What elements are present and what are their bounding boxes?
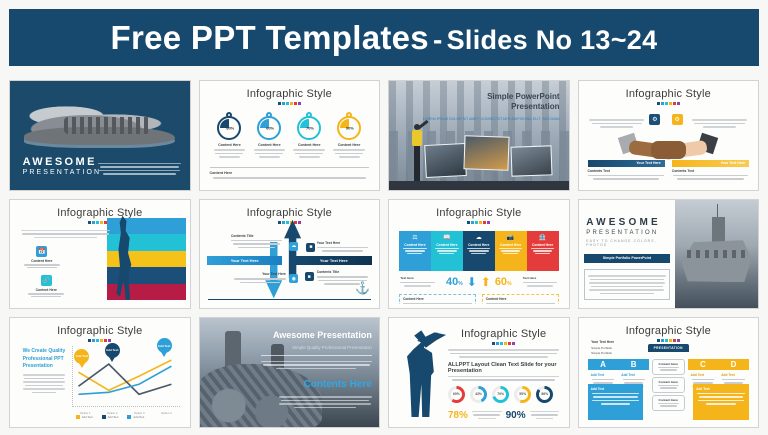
footer-block-left[interactable]: Add Text: [588, 384, 644, 420]
big-percent-row: 78% 90%: [448, 409, 559, 422]
note-title: Contents Title: [231, 234, 282, 238]
text-line: [98, 170, 180, 172]
donut-percent: 43%: [473, 389, 484, 400]
box-icon: ■: [305, 272, 314, 281]
donut-percent: 55%: [517, 389, 528, 400]
slide10-subtitle: Simple Quality Professional Presentation: [292, 345, 372, 350]
big-percent-right: 90%: [506, 410, 526, 421]
donut-percent: 70%: [495, 389, 506, 400]
slide12-top-item: Simple Portfolio: [591, 351, 642, 355]
stat-label-right: Text Here: [523, 276, 557, 280]
saluting-soldier-silhouette: [398, 330, 443, 417]
banner-title-sub: Slides No 13~24: [447, 25, 658, 55]
slide8-title-line2: PRESENTATION: [586, 230, 675, 236]
slide3-title-line1: Simple PowerPoint: [423, 92, 560, 102]
down-arrow-shape: [265, 242, 282, 298]
text-line: [98, 163, 181, 165]
stopwatch-icon: 60%: [257, 112, 281, 140]
feature-caption: Content Here: [25, 288, 67, 292]
arrow-down-icon: ⬇: [467, 276, 477, 288]
footer-title: Add Text: [696, 387, 746, 391]
slide10-bottom-text: [279, 394, 372, 410]
slide1-title-block: AWESOME PRESENTATION: [23, 156, 102, 176]
column-letter: D: [718, 359, 749, 370]
note-title: Your Text Here: [317, 241, 368, 245]
column-head: Add Text: [591, 373, 616, 377]
cloud-icon: ☁: [465, 234, 493, 241]
stopwatch-percent: 60%: [266, 126, 274, 131]
slide10-title: Awesome Presentation: [273, 330, 372, 340]
cloud-icon: ☁: [289, 242, 298, 251]
slide10-contents-heading: Contents Here: [303, 379, 371, 390]
slide11-content: Infographic Style ALLPPT Layout Clean Te…: [448, 328, 559, 423]
boat-crew-shape: [64, 117, 150, 134]
slide5-left-content: 📅 Content Here 🔗 Content Here ▣ Content …: [21, 228, 110, 305]
gear-icon: ⚙: [672, 114, 683, 125]
slide3-subtitle: LOREM IPSUM DOLOR SIT AMET, CONSECTETUER…: [423, 117, 560, 122]
box-caption: Content Here: [529, 243, 557, 247]
donut-percent: 86%: [539, 389, 550, 400]
presentation-badge: PRESENTATION: [648, 344, 689, 352]
slide1-title-line1: AWESOME: [23, 156, 102, 168]
stopwatch-percent: 70%: [306, 126, 314, 131]
legend-item: Add Text: [76, 415, 93, 419]
slide-thumbnail-12[interactable]: Infographic Style Your Text Here Simple …: [578, 317, 760, 428]
slide10-body-text: [261, 359, 372, 372]
banner-dash: -: [429, 24, 447, 55]
donut-ring: 43%: [470, 386, 487, 403]
column-letter: A: [588, 359, 619, 370]
slide12-top-list: Your Text Here Simple Portfolio Simple P…: [591, 340, 642, 355]
slides-grid: AWESOME PRESENTATION Infographic Style: [9, 80, 759, 428]
text-bar-left[interactable]: Your Text Here: [207, 256, 282, 265]
donut-percent: 60%: [451, 389, 462, 400]
slide6-title: Infographic Style: [204, 207, 376, 219]
slide2-footer-title: Content Here: [210, 171, 370, 175]
chart-legend: Add Text Add Text Add Text: [76, 415, 145, 419]
center-card-stack: Content Here Content Here Content Here: [649, 359, 688, 419]
box-caption: Content Here: [401, 243, 429, 247]
aircraft-carrier-photo: [675, 200, 758, 309]
slide1-title-line2: PRESENTATION: [23, 169, 102, 176]
bar-label-right: Your Text Here: [672, 160, 749, 167]
stopwatch-item[interactable]: 60% Content Here: [252, 112, 287, 160]
stopwatch-item[interactable]: 70% Content Here: [292, 112, 327, 160]
stat-note-left: Text Here: [400, 276, 434, 289]
person-yellow-vest: [411, 124, 424, 181]
slide8-title-line1: AWESOME: [586, 217, 675, 228]
slide12-top-item: Simple Portfolio: [591, 346, 642, 350]
slide12-title: Infographic Style: [583, 325, 755, 337]
note-bottom-left: Your Text Here: [234, 272, 285, 285]
slide3-title-block: Simple PowerPoint Presentation LOREM IPS…: [423, 92, 560, 122]
arrow-up-icon: ⬆: [481, 276, 491, 288]
center-card[interactable]: Content Here: [652, 359, 685, 375]
box-caption: Content Here: [465, 243, 493, 247]
slide-thumbnail-1[interactable]: AWESOME PRESENTATION: [9, 80, 191, 191]
footer-block-right[interactable]: Add Text: [693, 384, 749, 420]
center-card-title: Content Here: [656, 398, 681, 402]
chart-balloon-marker: Add Text: [157, 338, 172, 353]
ppt-templates-preview-page: Free PPT Templates-Slides No 13~24 AWESO…: [0, 0, 768, 435]
stats-row: Text Here 40% ⬇ ⬆ 60% Text Here: [393, 276, 565, 289]
donut-ring: 55%: [514, 386, 531, 403]
chart-x-tick: Option 4: [153, 411, 179, 415]
center-card-title: Content Here: [656, 362, 681, 366]
photo-frame-3: [511, 145, 553, 177]
feature-cell[interactable]: 📅 Content Here: [21, 246, 63, 269]
stopwatch-row: 80% Content Here 60% Content Here: [204, 112, 376, 160]
box-caption: Content Here: [497, 243, 525, 247]
slide-thumbnail-6[interactable]: Infographic Style Contents Title ☁ ■ You…: [199, 199, 381, 310]
photo-frame-1: [424, 143, 467, 178]
center-card-title: Content Here: [656, 380, 681, 384]
stopwatch-caption: Content Here: [292, 143, 327, 147]
globe-icon: ◉: [289, 274, 298, 283]
color-box[interactable]: 📷 Content Here: [495, 231, 527, 271]
banner-title-main: Free PPT Templates: [111, 19, 429, 56]
color-box[interactable]: ⚖ Content Here: [399, 231, 431, 271]
text-line: [103, 173, 176, 175]
header-banner: Free PPT Templates-Slides No 13~24: [9, 9, 759, 66]
dashed-note-left: Content Here: [399, 294, 476, 305]
calendar-icon: 📅: [36, 246, 47, 257]
title-dots-decoration: [583, 102, 755, 105]
color-box-row: ⚖ Content Here 📖 Content Here ☁ Content …: [399, 231, 559, 271]
book-icon: 📖: [433, 234, 461, 241]
slide-thumbnail-2[interactable]: Infographic Style 80% Content Here: [199, 80, 381, 191]
slide-thumbnail-10[interactable]: Awesome Presentation Simple Quality Prof…: [199, 317, 381, 428]
carrier-deck-aircraft: [687, 250, 746, 259]
note-title: Contents Title: [317, 270, 368, 274]
chart-icon: ■: [306, 243, 315, 252]
slide8-left-panel: AWESOME PRESENTATION EASY TO CHANGE COLO…: [579, 200, 676, 309]
note-title: Your Text Here: [234, 272, 285, 276]
feature-cell[interactable]: 🔗 Content Here: [25, 275, 67, 298]
line-chart: Add Text Add Text Add Text Option 1 Opti…: [72, 346, 180, 406]
donut-ring-row: 60% 43% 70% 55% 86%: [448, 386, 559, 403]
footer-title: Add Text: [591, 387, 641, 391]
note-right: Your Text Here: [317, 241, 368, 254]
column-letter: C: [688, 359, 719, 370]
slide7-title: Infographic Style: [393, 207, 565, 219]
link-icon: 🔗: [41, 275, 52, 286]
feature-caption: Content Here: [21, 259, 63, 263]
center-card[interactable]: Content Here: [652, 395, 685, 411]
slide8-title-block: AWESOME PRESENTATION EASY TO CHANGE COLO…: [586, 217, 675, 247]
donut-ring: 60%: [448, 386, 465, 403]
bottom-rule: [208, 299, 372, 301]
stat-value-left: 40%: [446, 276, 463, 288]
bar-column-right[interactable]: Your Text Here Contents Text: [672, 160, 749, 182]
donut-ring: 86%: [536, 386, 553, 403]
slide-thumbnail-9[interactable]: Infographic Style We Create Quality Prof…: [9, 317, 191, 428]
stopwatch-caption: Content Here: [212, 143, 247, 147]
slide5-intro-text: [21, 230, 110, 239]
banner-title: Free PPT Templates-Slides No 13~24: [111, 19, 658, 57]
slide11-title: Infographic Style: [448, 328, 559, 340]
title-dots-decoration: [204, 221, 376, 224]
ground-strip: [389, 181, 569, 190]
slide8-blurb: [584, 269, 669, 300]
stat-note-right: Text Here: [523, 276, 557, 289]
slide11-heading: ALLPPT Layout Clean Text Slide for your …: [448, 362, 559, 374]
slide10-rule: [261, 355, 372, 356]
camera-icon: 📷: [497, 234, 525, 241]
text-bar-right[interactable]: Your Text Here: [296, 256, 371, 265]
color-box[interactable]: 🏦 Content Here: [527, 231, 559, 271]
gear-icon: ⚙: [649, 114, 660, 125]
dashed-note-title: Content Here: [403, 297, 472, 301]
slide-thumbnail-11[interactable]: Infographic Style ALLPPT Layout Clean Te…: [388, 317, 570, 428]
slide-thumbnail-5[interactable]: Infographic Style 📅 Content Here: [9, 199, 191, 310]
dashed-note-row: Content Here Content Here: [399, 294, 559, 305]
stopwatch-icon: 80%: [217, 112, 241, 140]
slide8-ribbon: Simple Portfolio PowerPoint: [584, 254, 669, 263]
photo-frame-2: [464, 136, 510, 171]
stopwatch-icon: 70%: [297, 112, 321, 140]
slide9-heading: We Create Quality Professional PPT Prese…: [23, 348, 66, 370]
donut-ring: 70%: [492, 386, 509, 403]
slide8-title-line3: EASY TO CHANGE COLORS, PHOTOS: [586, 239, 675, 247]
big-percent-left: 78%: [448, 410, 468, 421]
color-box[interactable]: ☁ Content Here: [463, 231, 495, 271]
slide9-title: Infographic Style: [14, 325, 186, 337]
chart-balloon-marker: Add Text: [105, 343, 120, 358]
handshake-text-left: [589, 117, 644, 130]
slide3-title-line2: Presentation: [423, 102, 560, 112]
stopwatch-caption: Content Here: [252, 143, 287, 147]
column-letter: B: [618, 359, 649, 370]
center-card[interactable]: Content Here: [652, 377, 685, 393]
bank-icon: 🏦: [529, 234, 557, 241]
stopwatch-item[interactable]: 90% Content Here: [332, 112, 367, 160]
anchor-icon: ⚓: [355, 282, 370, 294]
stopwatch-percent: 80%: [226, 126, 234, 131]
stopwatch-icon: 90%: [337, 112, 361, 140]
text-line: [100, 166, 179, 168]
slide1-body-text: [98, 161, 181, 177]
bar-label-left: Your Text Here: [588, 160, 665, 167]
note-top-left: Contents Title: [231, 234, 282, 251]
stat-value-right: 60%: [495, 276, 512, 288]
slide-thumbnail-4[interactable]: Infographic Style ⚙ ⚙: [578, 80, 760, 191]
dashed-note-title: Content Here: [486, 297, 555, 301]
slide-thumbnail-8[interactable]: AWESOME PRESENTATION EASY TO CHANGE COLO…: [578, 199, 760, 310]
column-head: Add Text: [621, 373, 646, 377]
color-box[interactable]: 📖 Content Here: [431, 231, 463, 271]
column-head: Add Text: [691, 373, 716, 377]
slide9-left-text: We Create Quality Professional PPT Prese…: [23, 348, 66, 395]
stopwatch-item[interactable]: 80% Content Here: [212, 112, 247, 160]
bar-column-left[interactable]: Your Text Here Contents Text: [588, 160, 665, 182]
dashed-note-right: Content Here: [482, 294, 559, 305]
slide-thumbnail-3[interactable]: Simple PowerPoint Presentation LOREM IPS…: [388, 80, 570, 191]
bar-caption-left: Contents Text: [588, 169, 665, 173]
box-icon: ⚖: [401, 234, 429, 241]
stopwatch-caption: Content Here: [332, 143, 367, 147]
title-dots-decoration: [204, 102, 376, 105]
slide4-title: Infographic Style: [583, 88, 755, 100]
carrier-tower: [712, 217, 725, 245]
stat-label-left: Text Here: [400, 276, 434, 280]
box-caption: Content Here: [433, 243, 461, 247]
column-head: Add Text: [721, 373, 746, 377]
legend-item: Add Text: [127, 415, 144, 419]
stopwatch-percent: 90%: [346, 126, 354, 131]
slide2-footer: Content Here: [210, 167, 370, 181]
bar-caption-right: Contents Text: [672, 169, 749, 173]
title-dots-decoration: [393, 221, 565, 224]
slide12-top-title: Your Text Here: [591, 340, 642, 344]
handshake-text-right: [692, 117, 747, 130]
slide-thumbnail-7[interactable]: Infographic Style ⚖ Content Here 📖 Conte…: [388, 199, 570, 310]
title-dots-decoration: [448, 342, 559, 345]
slide2-title: Infographic Style: [204, 88, 376, 100]
legend-item: Add Text: [102, 415, 119, 419]
handshake-bars: Your Text Here Contents Text Your Text H…: [588, 160, 750, 182]
